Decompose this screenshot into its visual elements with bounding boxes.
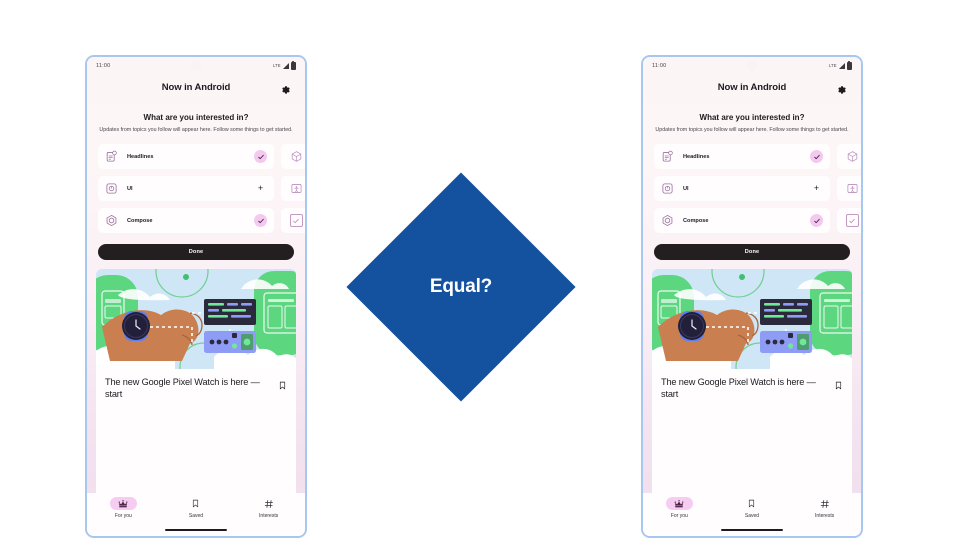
camera-punch-hole xyxy=(747,60,758,71)
topic-label: Compose xyxy=(683,218,810,224)
compose-hexagon-icon xyxy=(661,214,674,227)
signal-bars-icon xyxy=(839,63,845,69)
topic-label: UI xyxy=(127,186,254,192)
pixel-watch-illustration xyxy=(652,269,852,369)
status-bar-indicators: LTE xyxy=(829,62,852,70)
status-bar-indicators: LTE xyxy=(273,62,296,70)
signal-bars-icon xyxy=(283,63,289,69)
topic-card-peek-accessibility[interactable] xyxy=(837,176,861,201)
for-you-icon xyxy=(110,497,137,510)
bottom-nav-items: For you Saved Interests xyxy=(643,493,861,519)
topic-card-ui[interactable]: UI + xyxy=(98,176,274,201)
topic-card-peek-checkbox[interactable] xyxy=(281,208,305,233)
topic-card-peek-cube[interactable] xyxy=(837,144,861,169)
feed-card-text: The new Google Pixel Watch is here — sta… xyxy=(96,369,296,400)
plus-icon[interactable]: + xyxy=(254,182,267,195)
topic-row: UI + xyxy=(654,176,861,201)
bottom-nav-item-for-you[interactable]: For you xyxy=(648,497,710,519)
bottom-nav-label: For you xyxy=(671,513,688,519)
page-title: Now in Android xyxy=(718,82,786,93)
gear-icon[interactable] xyxy=(836,82,847,93)
accessibility-board-icon xyxy=(846,182,859,195)
checkbox-icon xyxy=(290,214,303,227)
bookmark-icon xyxy=(182,497,209,510)
feed-card-text: The new Google Pixel Watch is here — sta… xyxy=(652,369,852,400)
bottom-nav-label: Saved xyxy=(189,513,203,519)
onboarding-subheading: Updates from topics you follow will appe… xyxy=(655,126,849,134)
topic-grid: Headlines xyxy=(643,144,861,233)
gear-icon[interactable] xyxy=(280,82,291,93)
home-indicator xyxy=(721,529,783,531)
done-button-wrap: Done xyxy=(87,244,305,260)
plus-icon[interactable]: + xyxy=(810,182,823,195)
done-button[interactable]: Done xyxy=(654,244,850,260)
phone-mockup-right: 11:00 LTE Now in Android What are you in… xyxy=(641,55,863,538)
bottom-nav-item-interests[interactable]: Interests xyxy=(238,497,300,519)
bottom-nav-item-saved[interactable]: Saved xyxy=(165,497,227,519)
battery-icon xyxy=(291,62,296,70)
bottom-nav-label: Interests xyxy=(815,513,834,519)
topic-card-peek-checkbox[interactable] xyxy=(837,208,861,233)
bottom-nav-label: For you xyxy=(115,513,132,519)
for-you-icon xyxy=(666,497,693,510)
cube-icon xyxy=(846,150,859,163)
feed-card-title: The new Google Pixel Watch is here — sta… xyxy=(661,376,828,400)
topic-label: Headlines xyxy=(683,154,810,160)
onboarding-subheading: Updates from topics you follow will appe… xyxy=(99,126,293,134)
done-button-label: Done xyxy=(745,249,759,255)
bookmark-icon[interactable] xyxy=(834,378,843,389)
bookmark-icon xyxy=(738,497,765,510)
bottom-nav-item-saved[interactable]: Saved xyxy=(721,497,783,519)
status-bar-time: 11:00 xyxy=(652,63,666,69)
onboarding-section: What are you interested in? Updates from… xyxy=(643,100,861,134)
ui-circle-square-icon xyxy=(105,182,118,195)
app-bar: Now in Android xyxy=(87,74,305,100)
topic-card-compose[interactable]: Compose xyxy=(654,208,830,233)
app-bar: Now in Android xyxy=(643,74,861,100)
topic-card-headlines[interactable]: Headlines xyxy=(654,144,830,169)
page-title: Now in Android xyxy=(162,82,230,93)
battery-icon xyxy=(847,62,852,70)
topic-grid: Headlines xyxy=(87,144,305,233)
onboarding-heading: What are you interested in? xyxy=(87,113,305,122)
hash-icon xyxy=(811,497,838,510)
status-bar: 11:00 LTE xyxy=(643,57,861,74)
phone-screen: 11:00 LTE Now in Android What are you in… xyxy=(643,57,861,536)
cube-icon xyxy=(290,150,303,163)
headlines-document-icon xyxy=(661,150,674,163)
topic-card-ui[interactable]: UI + xyxy=(654,176,830,201)
topic-row: Compose xyxy=(98,208,305,233)
topic-row: Compose xyxy=(654,208,861,233)
bottom-navigation: For you Saved Interests xyxy=(87,493,305,536)
equal-diamond-label: Equal? xyxy=(380,206,542,368)
network-label: LTE xyxy=(829,63,837,68)
topic-card-compose[interactable]: Compose xyxy=(98,208,274,233)
bottom-nav-item-for-you[interactable]: For you xyxy=(92,497,154,519)
comparison-canvas: 11:00 LTE Now in Android What are you in… xyxy=(0,0,960,540)
status-bar-time: 11:00 xyxy=(96,63,110,69)
ui-circle-square-icon xyxy=(661,182,674,195)
compose-hexagon-icon xyxy=(105,214,118,227)
topic-row: Headlines xyxy=(654,144,861,169)
camera-punch-hole xyxy=(191,60,202,71)
bottom-navigation: For you Saved Interests xyxy=(643,493,861,536)
done-button[interactable]: Done xyxy=(98,244,294,260)
bottom-nav-item-interests[interactable]: Interests xyxy=(794,497,856,519)
accessibility-board-icon xyxy=(290,182,303,195)
phone-screen: 11:00 LTE Now in Android What are you in… xyxy=(87,57,305,536)
topic-label: UI xyxy=(683,186,810,192)
topic-card-headlines[interactable]: Headlines xyxy=(98,144,274,169)
topic-card-peek-accessibility[interactable] xyxy=(281,176,305,201)
topic-row: Headlines xyxy=(98,144,305,169)
topic-label: Headlines xyxy=(127,154,254,160)
phone-mockup-left: 11:00 LTE Now in Android What are you in… xyxy=(85,55,307,538)
done-button-label: Done xyxy=(189,249,203,255)
headlines-document-icon xyxy=(105,150,118,163)
done-button-wrap: Done xyxy=(643,244,861,260)
network-label: LTE xyxy=(273,63,281,68)
topic-card-peek-cube[interactable] xyxy=(281,144,305,169)
check-icon[interactable] xyxy=(254,150,267,163)
pixel-watch-illustration xyxy=(96,269,296,369)
bottom-nav-items: For you Saved Interests xyxy=(87,493,305,519)
status-bar: 11:00 LTE xyxy=(87,57,305,74)
onboarding-section: What are you interested in? Updates from… xyxy=(87,100,305,134)
checkbox-icon xyxy=(846,214,859,227)
bottom-nav-label: Interests xyxy=(259,513,278,519)
check-icon[interactable] xyxy=(254,214,267,227)
check-icon[interactable] xyxy=(810,150,823,163)
topic-row: UI + xyxy=(98,176,305,201)
home-indicator xyxy=(165,529,227,531)
check-icon[interactable] xyxy=(810,214,823,227)
bookmark-icon[interactable] xyxy=(278,378,287,389)
bottom-nav-label: Saved xyxy=(745,513,759,519)
hash-icon xyxy=(255,497,282,510)
feed-card-title: The new Google Pixel Watch is here — sta… xyxy=(105,376,272,400)
onboarding-heading: What are you interested in? xyxy=(643,113,861,122)
topic-label: Compose xyxy=(127,218,254,224)
